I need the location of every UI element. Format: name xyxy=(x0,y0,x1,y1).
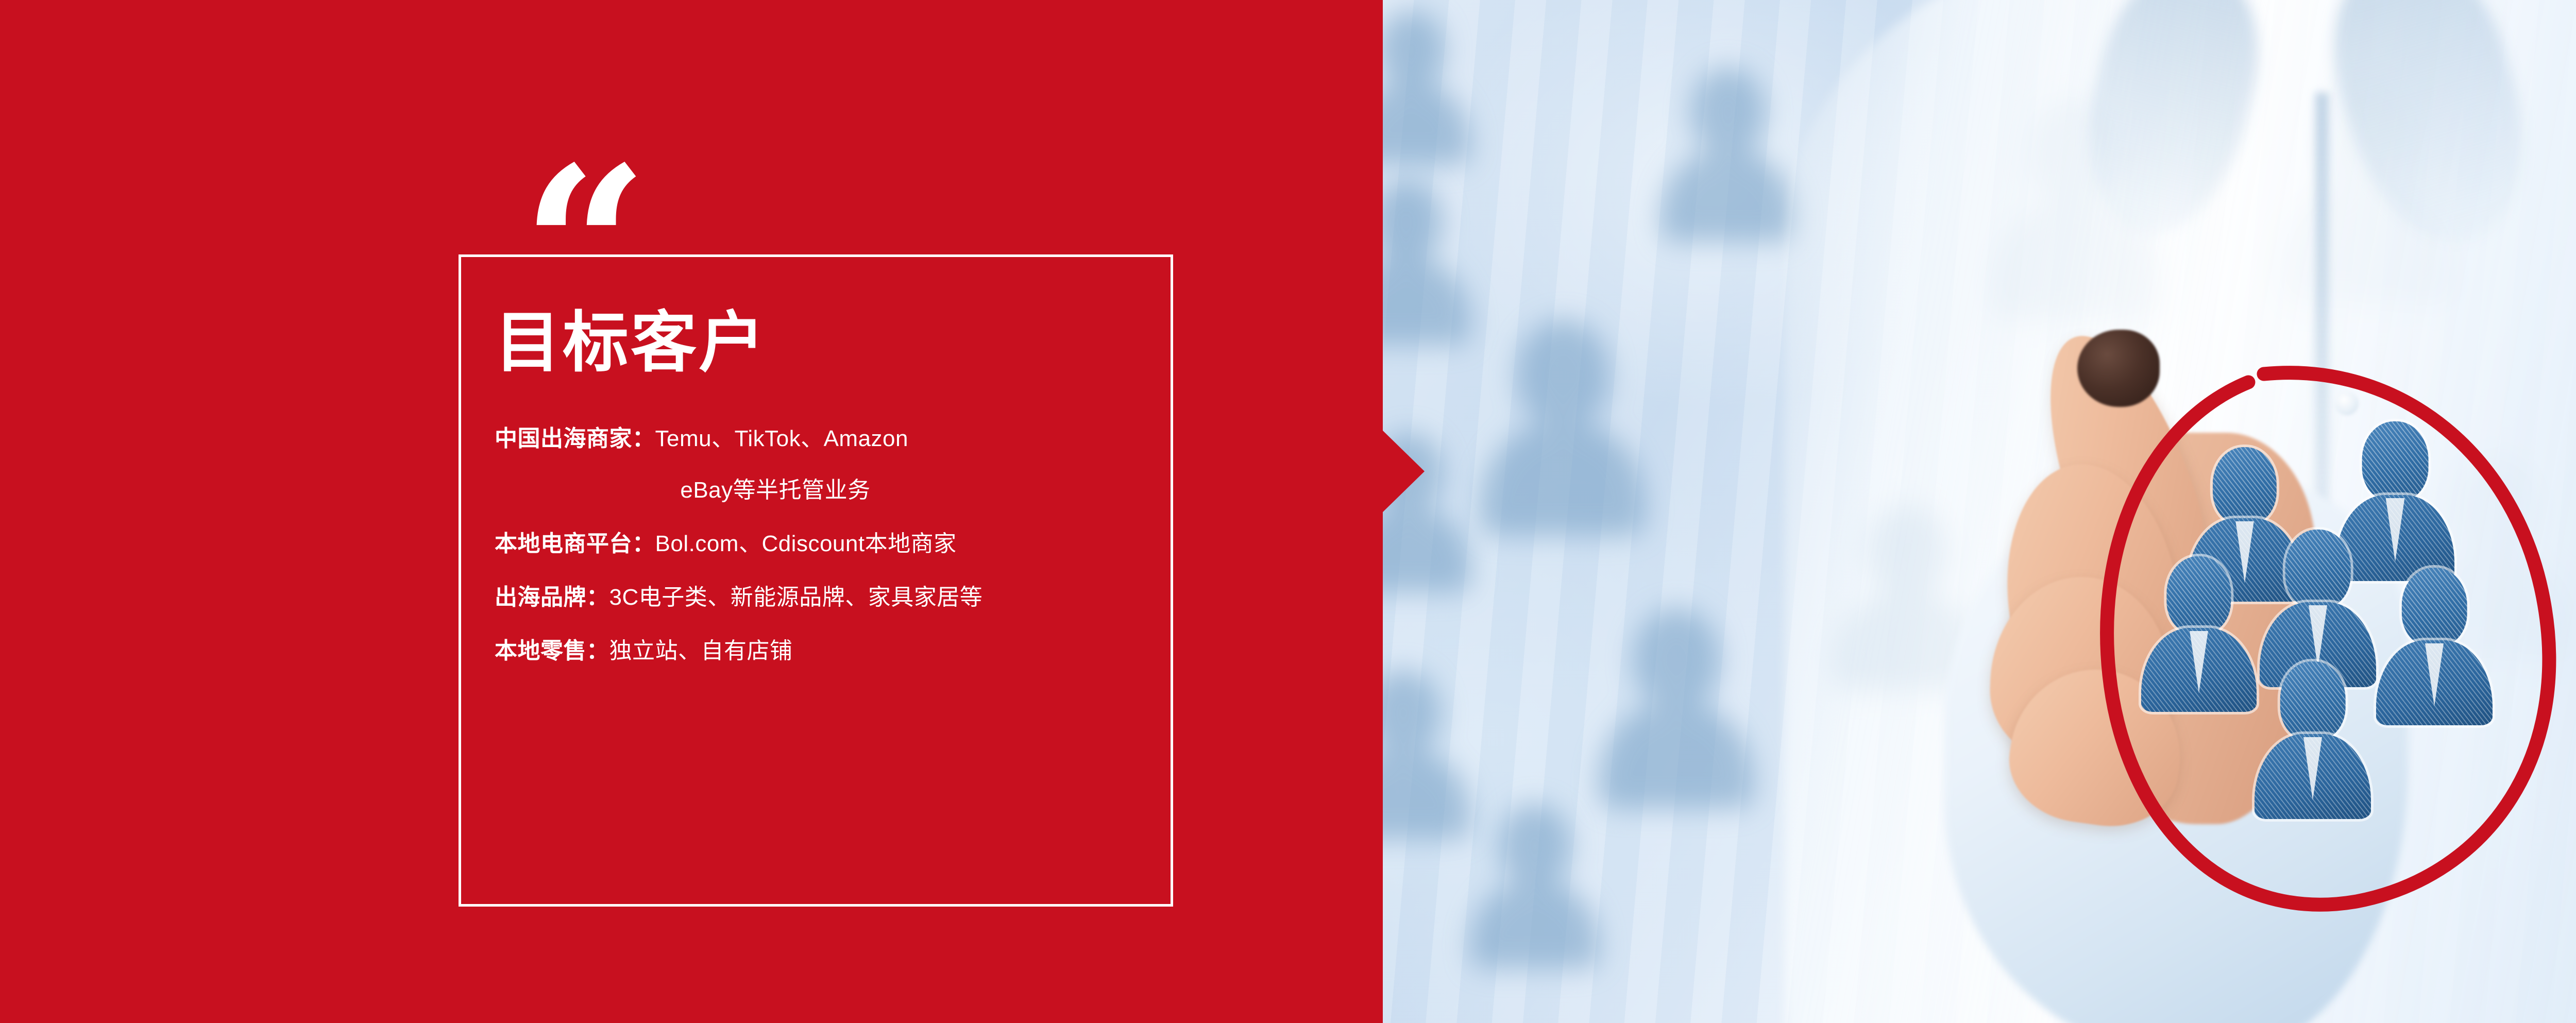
person-icon xyxy=(2376,568,2493,725)
list-item: 本地电商平台：Bol.com、Cdiscount本地商家 xyxy=(495,529,1154,559)
segment-label: 中国出海商家 xyxy=(495,426,632,451)
background-person-icon xyxy=(1383,670,1470,840)
background-person-icon xyxy=(1599,608,1754,809)
segment-label: 出海品牌 xyxy=(495,585,586,610)
segment-separator: ： xyxy=(586,585,609,610)
customer-segment-list: 中国出海商家：Temu、TikTok、Amazon eBay等半托管业务 本地电… xyxy=(495,424,1154,666)
person-head xyxy=(2280,661,2346,740)
background-person-icon xyxy=(1481,319,1646,536)
page-title: 目标客户 xyxy=(495,307,1154,380)
segment-label: 本地零售 xyxy=(495,638,586,663)
person-head xyxy=(2166,556,2231,634)
person-icon xyxy=(2141,556,2257,712)
target-customer-banner: “ 目标客户 中国出海商家：Temu、TikTok、Amazon eBay等半托… xyxy=(0,0,2576,1023)
person-icon xyxy=(2255,661,2371,819)
segment-separator: ： xyxy=(632,426,655,451)
segment-separator: ： xyxy=(586,638,609,663)
segment-value: Temu、TikTok、Amazon xyxy=(655,426,909,451)
hero-photo xyxy=(1383,0,2576,1023)
person-head xyxy=(2285,530,2351,608)
segment-label: 本地电商平台 xyxy=(495,531,632,556)
quote-mark-icon: “ xyxy=(521,138,676,313)
segment-value-continuation: eBay等半托管业务 xyxy=(495,475,1154,505)
person-head xyxy=(2402,568,2467,646)
segment-separator: ： xyxy=(632,531,655,556)
list-item: 本地零售：独立站、自有店铺 xyxy=(495,636,1154,666)
person-head xyxy=(2213,447,2277,524)
segment-value: Bol.com、Cdiscount本地商家 xyxy=(655,531,957,556)
background-person-icon xyxy=(1661,67,1795,242)
background-person-icon xyxy=(1383,10,1470,165)
person-head xyxy=(2362,421,2429,501)
segment-value: 独立站、自有店铺 xyxy=(609,638,793,663)
background-person-icon xyxy=(1470,804,1599,968)
segment-value: 3C电子类、新能源品牌、家具家居等 xyxy=(609,585,983,610)
list-item: 出海品牌：3C电子类、新能源品牌、家具家居等 xyxy=(495,583,1154,612)
background-person-icon xyxy=(1383,180,1470,345)
panel-content: 目标客户 中国出海商家：Temu、TikTok、Amazon eBay等半托管业… xyxy=(495,307,1154,666)
list-item: 中国出海商家：Temu、TikTok、Amazon eBay等半托管业务 xyxy=(495,424,1154,505)
